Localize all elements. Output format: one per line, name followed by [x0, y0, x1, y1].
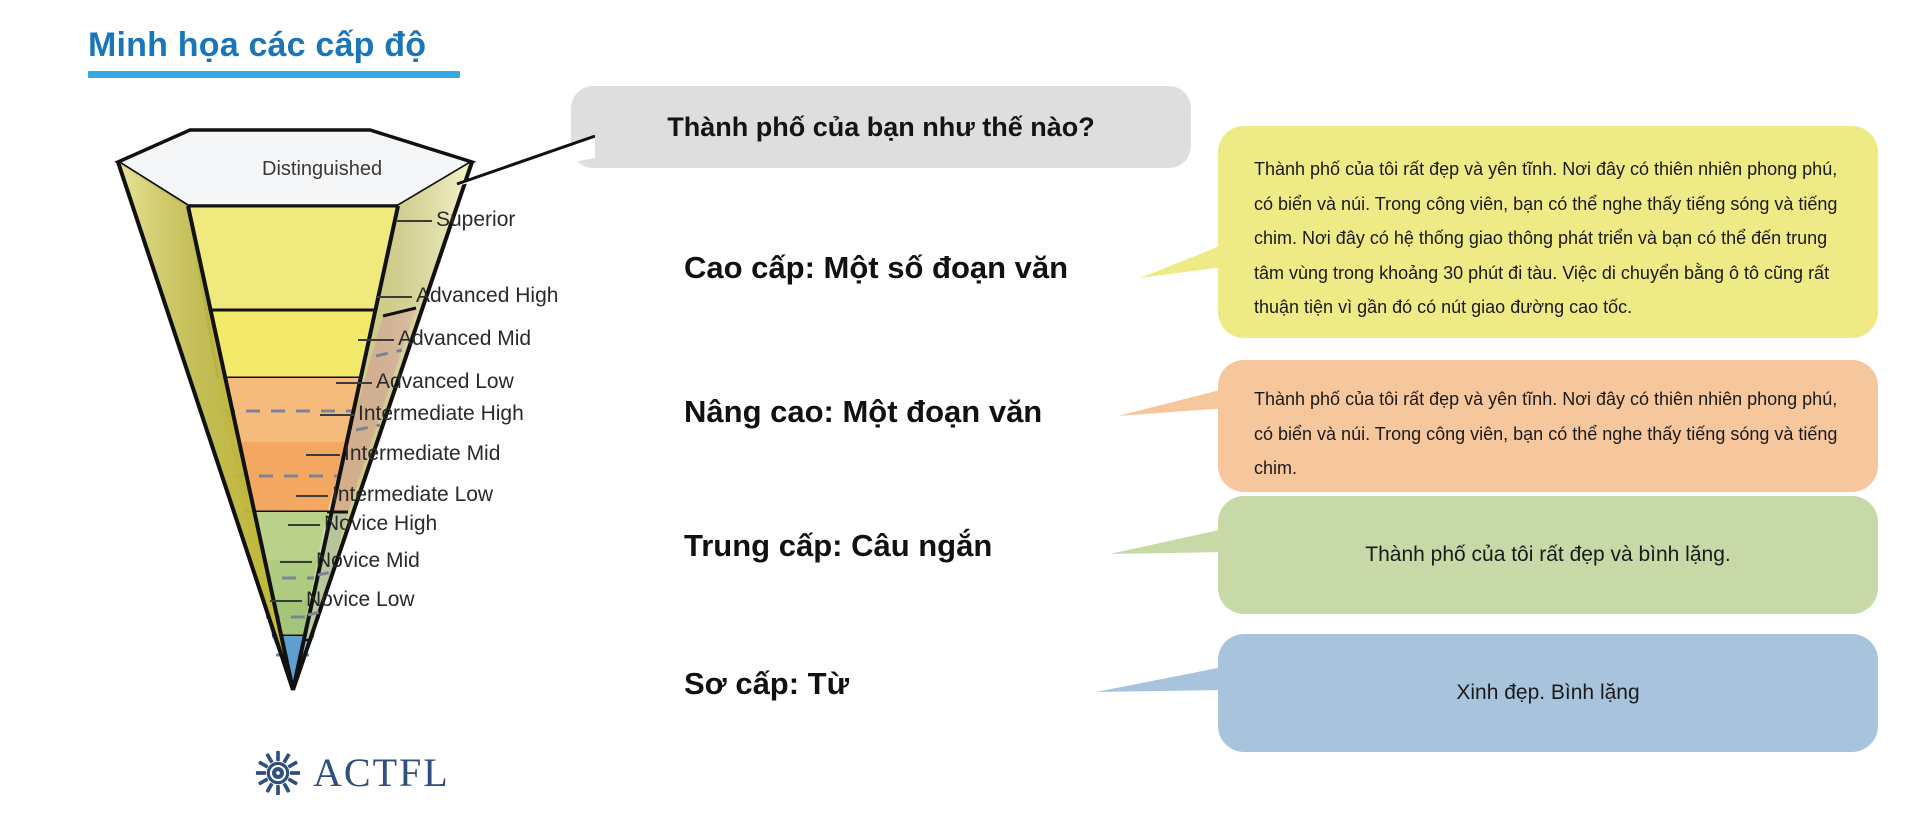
answer-bubble-intermediate: Thành phố của tôi rất đẹp và bình lặng.	[1218, 496, 1878, 614]
leader-line	[376, 296, 412, 298]
tier-label-novice-low: Novice Low	[306, 588, 415, 612]
leader-line	[288, 524, 320, 526]
answer-text-advanced-plus: Thành phố của tôi rất đẹp và yên tĩnh. N…	[1254, 152, 1842, 325]
tier-label-intermediate-low: Intermediate Low	[332, 483, 493, 507]
answer-bubble-advanced: Thành phố của tôi rất đẹp và yên tĩnh. N…	[1218, 360, 1878, 492]
leader-line	[296, 495, 328, 497]
connector-level-1	[1140, 240, 1230, 290]
page-title-block: Minh họa các cấp độ	[88, 26, 460, 78]
tier-label-advanced-low: Advanced Low	[376, 370, 514, 394]
connector-level-3	[1110, 524, 1228, 574]
level-heading-advanced: Nâng cao: Một đoạn văn	[684, 394, 1042, 430]
actfl-wordmark: ACTFL	[313, 753, 450, 793]
leader-line	[358, 339, 394, 341]
answer-bubble-novice: Xinh đẹp. Bình lặng	[1218, 634, 1878, 752]
actfl-logo: ACTFL	[255, 750, 450, 796]
tier-label-intermediate-mid: Intermediate Mid	[344, 442, 500, 466]
level-heading-novice: Sơ cấp: Từ	[684, 666, 849, 702]
question-text: Thành phố của bạn như thế nào?	[667, 112, 1095, 143]
slide-canvas: Minh họa các cấp độ	[0, 0, 1920, 833]
question-bubble: Thành phố của bạn như thế nào?	[571, 86, 1191, 168]
actfl-rosette-icon	[255, 750, 301, 796]
page-title: Minh họa các cấp độ	[88, 26, 460, 65]
answer-text-advanced: Thành phố của tôi rất đẹp và yên tĩnh. N…	[1254, 382, 1842, 486]
tier-label-group: Superior Advanced High Advanced Mid Adva…	[80, 120, 600, 700]
answer-text-novice: Xinh đẹp. Bình lặng	[1456, 673, 1639, 713]
proficiency-pyramid: Distinguished Superior Advanced High Adv…	[80, 120, 600, 700]
leader-line	[396, 220, 432, 222]
tier-label-superior: Superior	[436, 208, 515, 232]
leader-line	[306, 454, 340, 456]
answer-text-intermediate: Thành phố của tôi rất đẹp và bình lặng.	[1365, 535, 1730, 575]
answer-bubble-advanced-plus: Thành phố của tôi rất đẹp và yên tĩnh. N…	[1218, 126, 1878, 338]
connector-level-2	[1118, 386, 1228, 432]
tier-label-novice-mid: Novice Mid	[316, 549, 420, 573]
leader-line	[280, 561, 312, 563]
tier-label-novice-high: Novice High	[324, 512, 437, 536]
level-heading-intermediate: Trung cấp: Câu ngắn	[684, 528, 992, 564]
leader-line	[320, 414, 354, 416]
tier-label-advanced-mid: Advanced Mid	[398, 327, 531, 351]
tier-label-intermediate-high: Intermediate High	[358, 402, 524, 426]
leader-line	[336, 382, 372, 384]
question-bubble-tail	[455, 128, 595, 198]
level-heading-advanced-plus: Cao cấp: Một số đoạn văn	[684, 250, 1068, 286]
connector-level-4	[1096, 660, 1228, 712]
title-underline	[88, 71, 460, 78]
tier-label-advanced-high: Advanced High	[416, 284, 558, 308]
leader-line	[270, 600, 302, 602]
